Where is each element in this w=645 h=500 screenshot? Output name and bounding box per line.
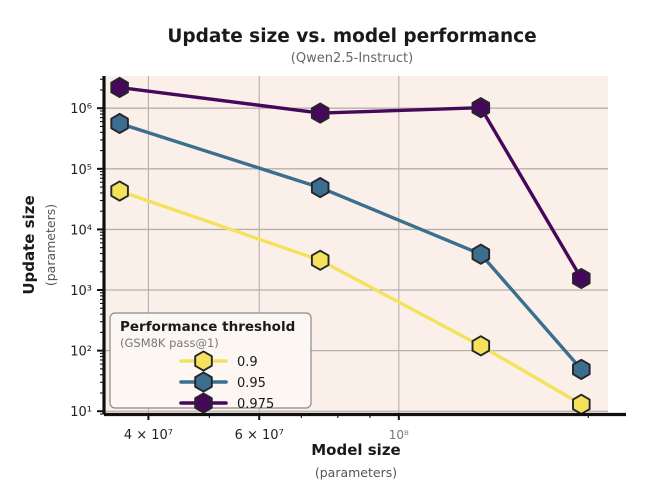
x-tick-label-1: 6 × 10⁷ — [235, 428, 284, 443]
y-axis-label-sub: (parameters) — [43, 204, 58, 286]
y-tick-label-4: 10⁵ — [70, 163, 92, 178]
y-axis-label: Update size — [20, 195, 38, 294]
legend-subtitle: (GSM8K pass@1) — [120, 336, 219, 350]
x-tick-label-0: 4 × 10⁷ — [124, 428, 173, 443]
x-axis-label-sub: (parameters) — [315, 465, 397, 480]
x-axis-label: Model size — [311, 441, 400, 459]
y-tick-label-5: 10⁶ — [70, 102, 92, 117]
data-point-marker[interactable] — [573, 395, 590, 414]
data-point-marker[interactable] — [111, 78, 128, 97]
chart-title: Update size vs. model performance — [167, 26, 536, 47]
y-tick-label-1: 10² — [70, 345, 92, 360]
chart-subtitle: (Qwen2.5-Instruct) — [291, 51, 413, 66]
legend-label: 0.9 — [237, 355, 258, 370]
data-point-marker[interactable] — [473, 245, 490, 264]
legend-title: Performance threshold — [120, 319, 295, 335]
data-point-marker[interactable] — [312, 251, 329, 270]
data-point-marker[interactable] — [473, 98, 490, 117]
data-point-marker[interactable] — [573, 269, 590, 288]
data-point-marker[interactable] — [473, 336, 490, 355]
y-tick-label-2: 10³ — [70, 284, 92, 299]
legend-marker — [195, 393, 212, 412]
y-tick-label-0: 10¹ — [70, 405, 92, 420]
x-tick-label-2: 10⁸ — [389, 428, 409, 442]
legend-label: 0.975 — [237, 397, 274, 412]
data-point-marker[interactable] — [111, 114, 128, 133]
legend-marker — [195, 372, 212, 391]
chart-canvas: Update size vs. model performance (Qwen2… — [0, 0, 645, 500]
legend-marker — [195, 351, 212, 370]
legend[interactable]: Performance threshold (GSM8K pass@1) 0.9… — [110, 313, 311, 413]
data-point-marker[interactable] — [312, 178, 329, 197]
legend-label: 0.95 — [237, 376, 266, 391]
data-point-marker[interactable] — [111, 181, 128, 200]
data-point-marker[interactable] — [573, 360, 590, 379]
y-tick-label-3: 10⁴ — [70, 223, 92, 238]
data-point-marker[interactable] — [312, 104, 329, 123]
